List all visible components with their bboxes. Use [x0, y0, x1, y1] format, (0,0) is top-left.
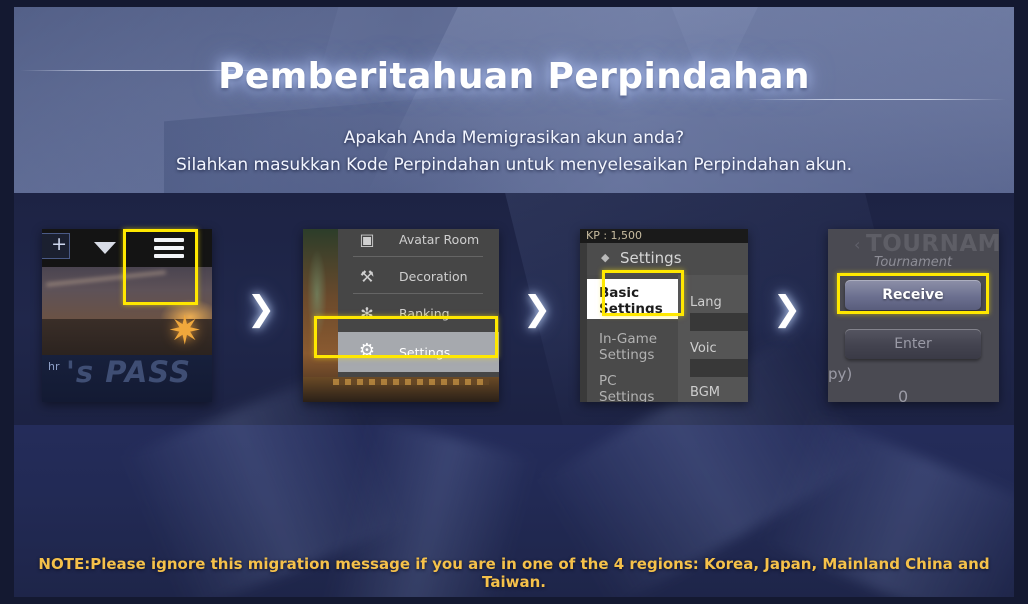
subtitle-line-2: Silahkan masukkan Kode Perpindahan untuk… [14, 152, 1014, 179]
step4-footer-value: 0 [898, 387, 908, 402]
voice-select[interactable] [690, 359, 748, 377]
avatar-room-icon: ▣ [356, 229, 378, 251]
menu-item-decoration[interactable]: ⚒ Decoration [338, 258, 499, 295]
step2-scene-floor [303, 377, 499, 402]
divider-right [748, 99, 1006, 100]
settings-window-title: Settings [620, 249, 682, 267]
step-arrow-2: ❯ [522, 287, 552, 331]
voice-label: Voic [690, 341, 717, 356]
menu-item-label: Avatar Room [399, 232, 479, 247]
pc-settings-tab[interactable]: PCSettings [587, 367, 678, 402]
enter-button[interactable]: Enter [845, 329, 981, 359]
tournament-title-large: TOURNAMENT [866, 231, 999, 257]
step-4-highlight-box [837, 273, 989, 314]
step1-pass-title: 's PASS [66, 355, 191, 389]
step1-pass-sub: hr [48, 360, 60, 373]
page-subtitle: Apakah Anda Memigrasikan akun anda? Sila… [14, 125, 1014, 179]
step1-plus-button[interactable] [42, 233, 70, 259]
menu-separator [353, 293, 483, 294]
menu-item-avatar-room[interactable]: ▣ Avatar Room [338, 229, 499, 258]
menu-item-label: Decoration [399, 269, 468, 284]
notice-stage: Pemberitahuan Perpindahan Apakah Anda Me… [14, 7, 1014, 597]
menu-separator [353, 256, 483, 257]
step-2-highlight-box [314, 316, 498, 358]
step-arrow-1: ❯ [246, 287, 276, 331]
in-game-settings-tab[interactable]: In-GameSettings [587, 325, 678, 363]
step4-footer-fragment: py) [828, 365, 852, 383]
migration-note: NOTE:Please ignore this migration messag… [14, 555, 1014, 591]
bgm-label: BGM [690, 385, 720, 400]
step1-star-icon: ✷ [168, 311, 208, 351]
kp-balance-label: KP : 1,500 [580, 229, 748, 243]
step-3-highlight-box [602, 270, 684, 316]
chevron-down-icon[interactable] [94, 242, 116, 254]
decoration-icon: ⚒ [356, 266, 378, 288]
page-title: Pemberitahuan Perpindahan [14, 56, 1014, 97]
step-arrow-3: ❯ [772, 287, 802, 331]
diamond-icon: ◆ [601, 251, 609, 264]
subtitle-line-1: Apakah Anda Memigrasikan akun anda? [14, 125, 1014, 152]
tournament-title-small: Tournament [874, 255, 952, 270]
language-select[interactable] [690, 313, 748, 331]
language-label: Lang [690, 295, 722, 310]
step-4-screenshot: ‹ TOURNAMENT Tournament Receive Enter py… [828, 229, 999, 402]
outer-frame: Pemberitahuan Perpindahan Apakah Anda Me… [0, 0, 1028, 604]
step-1-highlight-box [123, 229, 198, 305]
step-strip: ✷ 's PASS hr ❯ ▣ Avatar Room [14, 193, 1014, 425]
back-arrow-icon[interactable]: ‹ [854, 235, 860, 254]
